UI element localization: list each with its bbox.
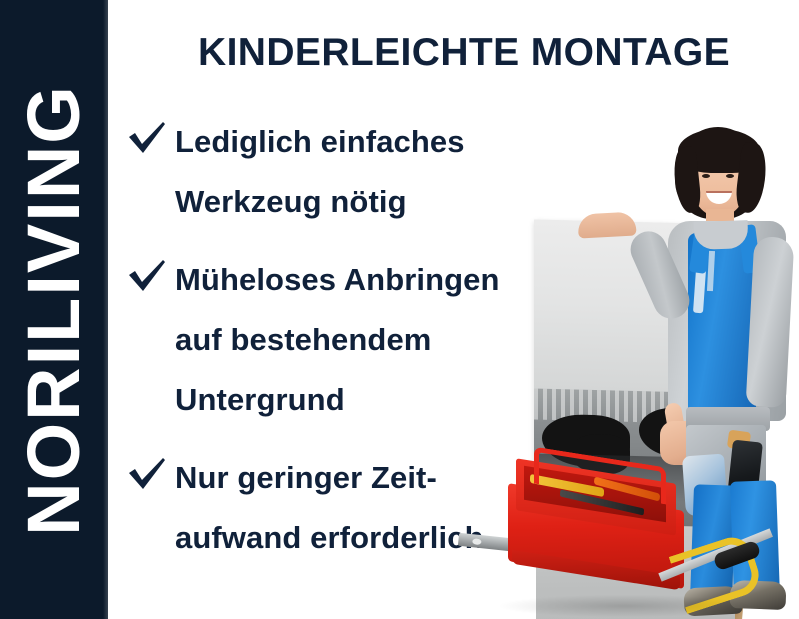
band-edge-highlight (103, 0, 108, 619)
promo-banner: NORILIVING KINDERLEICHTE MONTAGE Ledigli… (0, 0, 799, 619)
brand-name: NORILIVING (17, 84, 91, 536)
ground-shadow (500, 595, 750, 617)
product-photo (440, 125, 799, 619)
toolbox (508, 455, 708, 595)
brand-band: NORILIVING (0, 0, 108, 619)
page-title: KINDERLEICHTE MONTAGE (198, 31, 730, 75)
check-icon (126, 120, 168, 156)
eye (702, 174, 710, 178)
saw-blade-hole (472, 538, 482, 545)
check-icon (126, 258, 168, 294)
hand-on-panel (577, 211, 636, 238)
eye (726, 174, 734, 178)
right-arm (746, 236, 795, 408)
check-icon (126, 456, 168, 492)
